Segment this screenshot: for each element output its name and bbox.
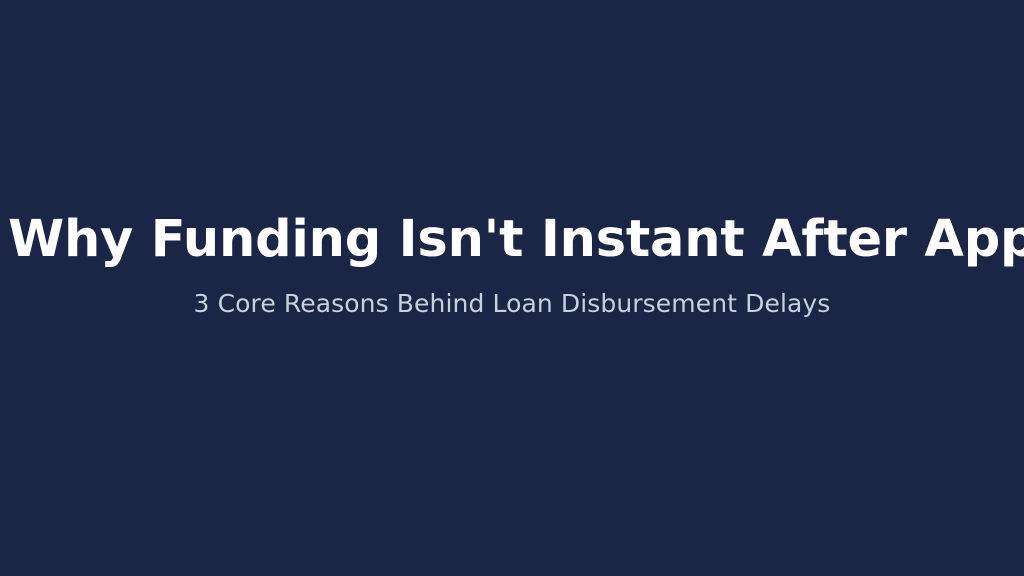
page-title: Why Funding Isn't Instant After Approval xyxy=(8,213,1016,266)
slide-content-block: Why Funding Isn't Instant After Approval… xyxy=(0,213,1024,319)
title-slide: Why Funding Isn't Instant After Approval… xyxy=(0,0,1024,576)
page-subtitle: 3 Core Reasons Behind Loan Disbursement … xyxy=(8,288,1016,319)
